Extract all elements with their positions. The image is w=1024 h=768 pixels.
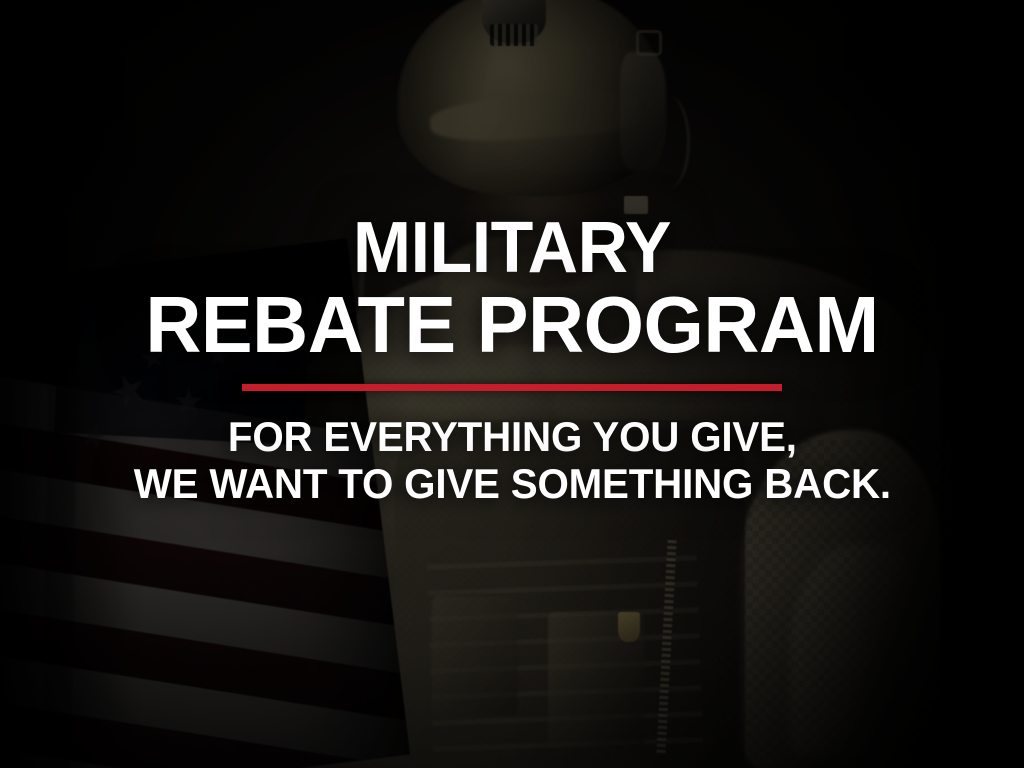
red-divider-rule xyxy=(242,384,782,391)
headline-line-1: MILITARY xyxy=(145,214,878,283)
subheadline-line-1: FOR EVERYTHING YOU GIVE, xyxy=(133,413,890,460)
military-rebate-banner: MILITARY REBATE PROGRAM FOR EVERYTHING Y… xyxy=(0,0,1024,768)
headline: MILITARY REBATE PROGRAM xyxy=(134,214,890,364)
subheadline-line-2: WE WANT TO GIVE SOMETHING BACK. xyxy=(133,460,890,507)
text-overlay: MILITARY REBATE PROGRAM FOR EVERYTHING Y… xyxy=(0,0,1024,768)
headline-line-2: REBATE PROGRAM xyxy=(145,287,878,364)
subheadline: FOR EVERYTHING YOU GIVE, WE WANT TO GIVE… xyxy=(118,413,907,507)
